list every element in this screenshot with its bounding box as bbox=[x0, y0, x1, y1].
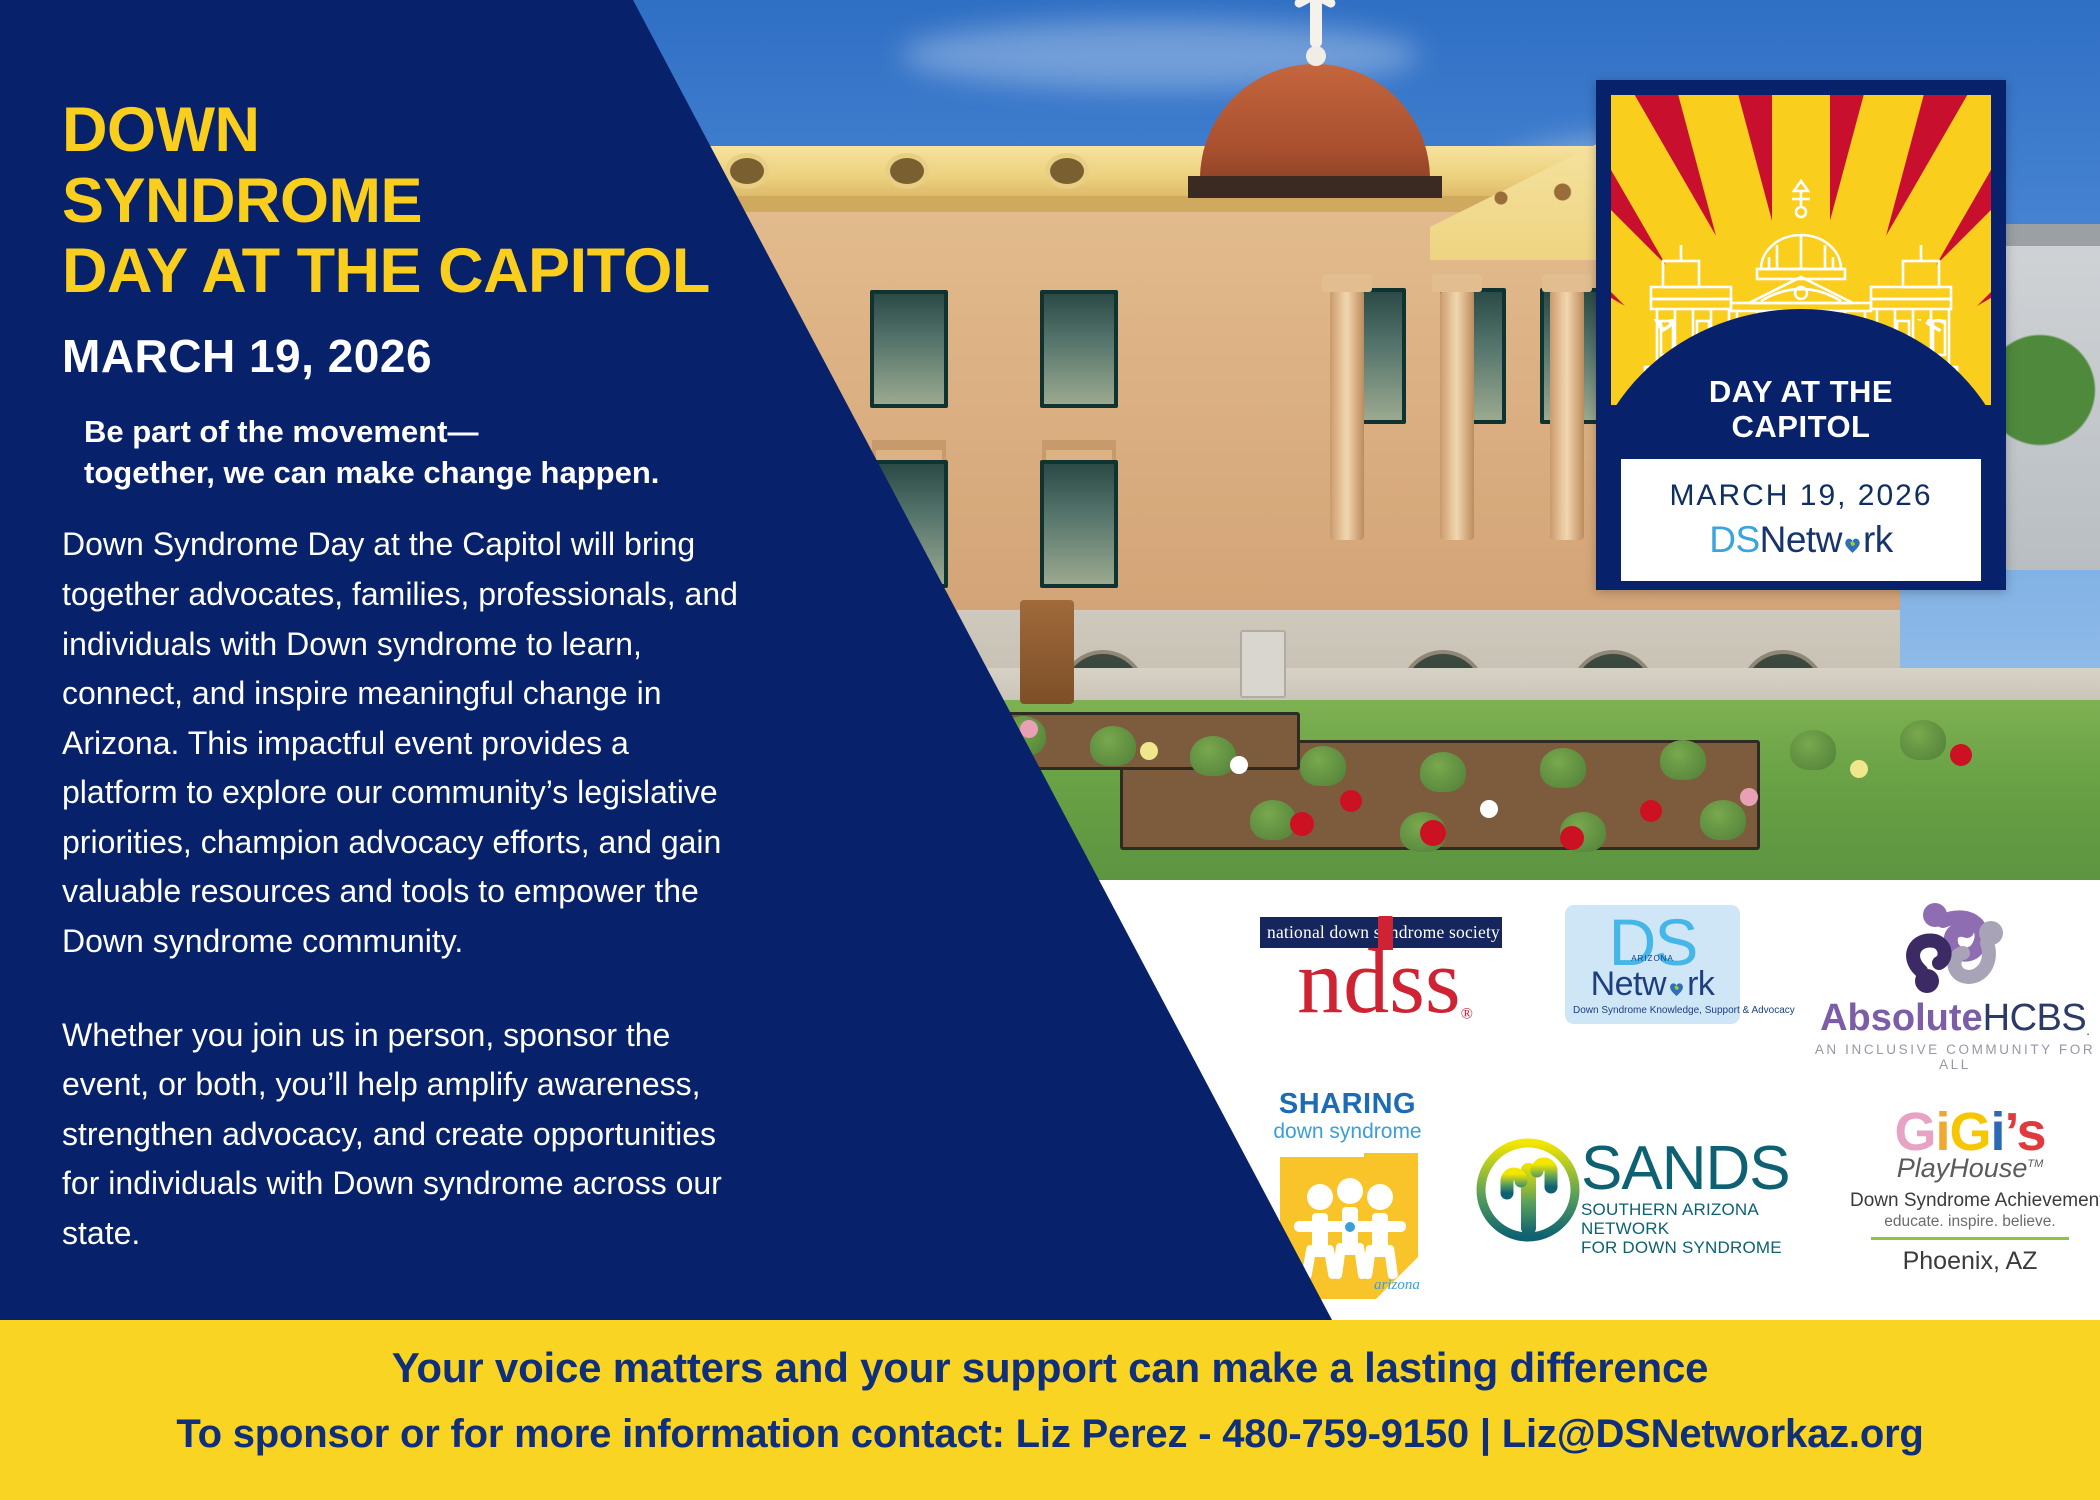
gigis-playhouse-word: PlayHouse bbox=[1897, 1153, 2028, 1183]
gigis-line-2: educate. inspire. believe. bbox=[1850, 1213, 2090, 1231]
headline-line-3: DAY AT THE CAPITOL bbox=[62, 236, 762, 307]
badge-dsnetwork-logo: DSNetwrk bbox=[1709, 519, 1893, 561]
absolute-bold-text: Absolute bbox=[1820, 997, 1983, 1039]
dsnetwork-tagline: Down Syndrome Knowledge, Support & Advoc… bbox=[1573, 1005, 1732, 1016]
dsnetwork-arizona-text: ARIZONA bbox=[1631, 955, 1674, 963]
body-paragraph-1: Down Syndrome Day at the Capitol will br… bbox=[62, 520, 752, 966]
heart-icon bbox=[1667, 969, 1686, 987]
badge-date: MARCH 19, 2026 bbox=[1669, 479, 1932, 513]
badge-ds-text: DS bbox=[1709, 519, 1759, 560]
absolute-hcbs-text: HCBS bbox=[1983, 997, 2087, 1039]
absolute-wordmark: AbsoluteHCBS. bbox=[1810, 999, 2100, 1037]
logo-absolute-hcbs: AbsoluteHCBS. AN INCLUSIVE COMMUNITY FOR… bbox=[1810, 899, 2100, 1072]
cactus-circle-icon bbox=[1473, 1135, 1583, 1245]
badge-rk-text: rk bbox=[1863, 519, 1893, 560]
absolute-people-icon bbox=[1895, 899, 2015, 995]
gigis-playhouse-text: PlayHouseTM bbox=[1850, 1153, 2090, 1184]
tagline-line-1: Be part of the movement— bbox=[84, 411, 762, 453]
dsnetwork-netw-text: Netw bbox=[1591, 965, 1666, 1003]
sands-wordmark: SANDS bbox=[1581, 1141, 1807, 1197]
sharing-arizona-script: arizona bbox=[1374, 1277, 1420, 1293]
badge-subtitle-line-1: DAY AT THE bbox=[1611, 375, 1991, 410]
gigis-divider bbox=[1871, 1237, 2069, 1240]
gigis-wordmark: GiGi’s bbox=[1850, 1105, 2090, 1159]
badge-netw-text: Netw bbox=[1760, 519, 1842, 560]
sands-text-block: SANDS SOUTHERN ARIZONA NETWORK FOR DOWN … bbox=[1581, 1141, 1807, 1257]
tagline-line-2: together, we can make change happen. bbox=[84, 452, 762, 494]
logo-ndss: national down syndrome society ndss® bbox=[1260, 917, 1510, 1021]
utility-box bbox=[1240, 630, 1286, 698]
petrified-wood bbox=[1020, 600, 1074, 704]
sharing-line-2: down syndrome bbox=[1255, 1120, 1440, 1143]
svg-text:DOWN SYNDROME: DOWN SYNDROME bbox=[1647, 319, 1956, 340]
footer-headline: Your voice matters and your support can … bbox=[0, 1344, 2100, 1392]
headline-line-2: SYNDROME bbox=[62, 166, 762, 237]
gigis-tm: TM bbox=[2027, 1158, 2043, 1170]
headline-line-1: DOWN bbox=[62, 95, 762, 166]
badge-info-block: MARCH 19, 2026 DSNetwrk bbox=[1621, 459, 1981, 581]
gigis-line-1: Down Syndrome Achievement Centers bbox=[1850, 1190, 2090, 1212]
badge-arc-text: DOWN SYNDROME bbox=[1611, 319, 1991, 379]
dsnetwork-network-text: ARIZONANetwrk bbox=[1573, 967, 1732, 1001]
flyer-canvas: DOWN SYNDROME DAY AT THE CAPITOL MARCH 1… bbox=[0, 0, 2100, 1500]
event-date: MARCH 19, 2026 bbox=[62, 329, 762, 383]
badge-subtitle: DAY AT THE CAPITOL bbox=[1611, 375, 1991, 444]
heart-icon bbox=[1843, 521, 1862, 539]
gigis-city: Phoenix, AZ bbox=[1850, 1247, 2090, 1276]
sands-tagline-line-1: SOUTHERN ARIZONA NETWORK bbox=[1581, 1200, 1807, 1238]
ndss-ascender bbox=[1378, 916, 1393, 950]
sands-tagline-line-2: FOR DOWN SYNDROME bbox=[1581, 1238, 1807, 1257]
sponsor-row-1: national down syndrome society ndss® DS … bbox=[1210, 905, 2070, 1095]
page-title: DOWN SYNDROME DAY AT THE CAPITOL bbox=[62, 95, 762, 307]
logo-gigis-playhouse: GiGi’s PlayHouseTM Down Syndrome Achieve… bbox=[1850, 1105, 2090, 1276]
badge-subtitle-line-2: CAPITOL bbox=[1611, 410, 1991, 445]
sharing-line-1: SHARING bbox=[1255, 1090, 1440, 1119]
footer-banner: Your voice matters and your support can … bbox=[0, 1320, 2100, 1500]
body-paragraph-2: Whether you join us in person, sponsor t… bbox=[62, 1011, 752, 1259]
sponsor-row-2: SHARING down syndrome bbox=[1255, 1095, 2085, 1320]
sands-tagline: SOUTHERN ARIZONA NETWORK FOR DOWN SYNDRO… bbox=[1581, 1200, 1807, 1257]
footer-contact: To sponsor or for more information conta… bbox=[0, 1412, 2100, 1457]
absolute-tagline: AN INCLUSIVE COMMUNITY FOR ALL bbox=[1810, 1042, 2100, 1072]
winged-victory-statue bbox=[1298, 0, 1332, 68]
tagline: Be part of the movement— together, we ca… bbox=[84, 411, 762, 495]
ndss-registered: ® bbox=[1461, 1005, 1473, 1022]
absolute-registered: . bbox=[2086, 1023, 2090, 1038]
logo-ds-network: DS ARIZONANetwrk Down Syndrome Knowledge… bbox=[1565, 905, 1740, 1024]
headline-copy-block: DOWN SYNDROME DAY AT THE CAPITOL MARCH 1… bbox=[62, 0, 762, 1259]
ndss-wordmark: ndss® bbox=[1260, 942, 1510, 1021]
event-badge: DOWN SYNDROME DAY AT THE CAPITOL MARCH 1… bbox=[1596, 80, 2006, 590]
badge-arc-text-content: DOWN SYNDROME bbox=[1647, 319, 1956, 340]
dsnetwork-rk-text: rk bbox=[1687, 965, 1714, 1003]
